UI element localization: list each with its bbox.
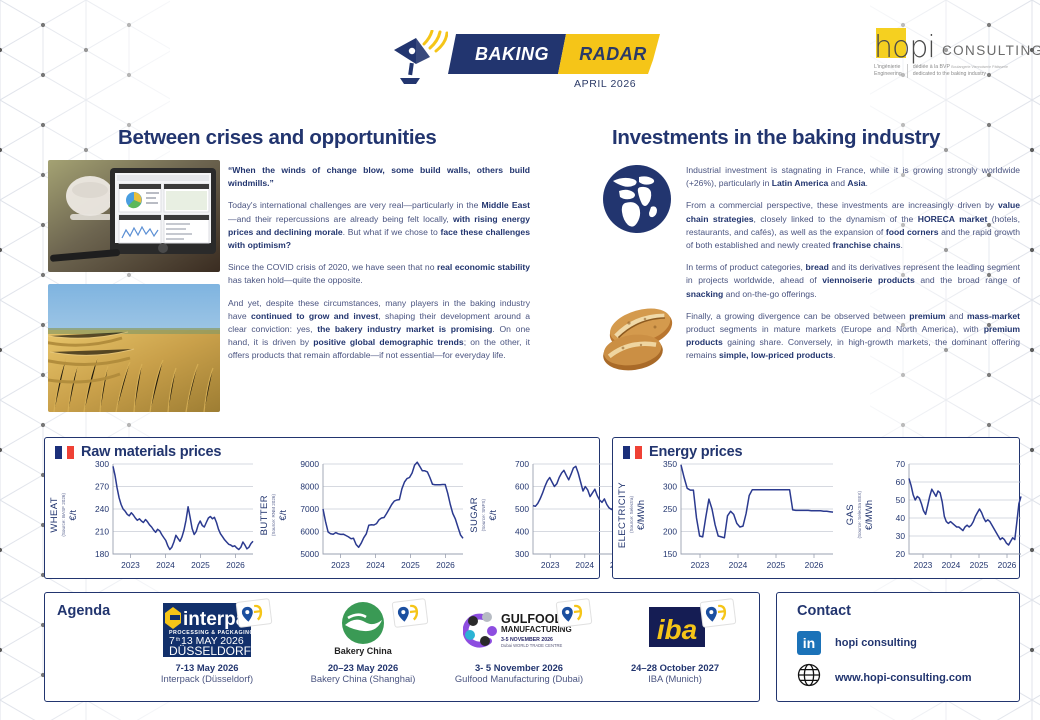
tablet-dashboard-photo — [48, 160, 220, 272]
chart-wheat: WHEAT (Source: BASF 2026) €/t 1802102402… — [49, 458, 259, 579]
article-right-para-4: Finally, a growing divergence can be obs… — [686, 310, 1020, 363]
svg-text:180: 180 — [95, 549, 109, 559]
svg-text:th: th — [176, 637, 180, 643]
article-right-body: Industrial investment is stagnating in F… — [686, 164, 1020, 363]
logo-consulting-text: CONSULTING — [942, 43, 1040, 58]
svg-text:400: 400 — [515, 527, 529, 537]
banner-radar-text: RADAR — [566, 34, 660, 74]
website-url[interactable]: www.hopi-consulting.com — [835, 672, 971, 684]
page-header: BAKING RADAR APRIL 2026 hopi CONSULTING … — [0, 0, 1040, 112]
svg-text:150: 150 — [663, 549, 677, 559]
newsletter-page: BAKING RADAR APRIL 2026 hopi CONSULTING … — [0, 0, 1040, 720]
globe-icon — [601, 163, 673, 235]
french-flag-icon — [55, 446, 74, 459]
svg-text:300: 300 — [663, 482, 677, 492]
butter-axis-labels: BUTTER (Source: RNM 2026) €/t — [259, 458, 289, 570]
interpack-date: 7-13 May 2026 — [129, 662, 285, 673]
svg-text:8000: 8000 — [300, 482, 319, 492]
iba-date: 24–28 October 2027 — [597, 662, 753, 673]
bakery-china-name: Bakery China (Shanghai) — [285, 673, 441, 685]
gas-plot: 2030405060702023202420252026 — [877, 458, 1027, 579]
gas-unit: €/MWh — [864, 500, 875, 530]
svg-text:500: 500 — [515, 504, 529, 514]
interpack-logo: interpack PROCESSING & PACKAGING 7 th 13… — [129, 599, 285, 661]
logo-tagline-fr-1: L'ingénierie — [874, 64, 902, 71]
svg-text:2023: 2023 — [331, 560, 350, 570]
contact-website-row[interactable]: www.hopi-consulting.com — [797, 663, 971, 692]
svg-text:2026: 2026 — [805, 560, 824, 570]
svg-text:60: 60 — [896, 477, 906, 487]
svg-text:2025: 2025 — [191, 560, 210, 570]
svg-text:2026: 2026 — [226, 560, 245, 570]
svg-text:2026: 2026 — [998, 560, 1017, 570]
chart-butter: BUTTER (Source: RNM 2026) €/t 5000600070… — [259, 458, 469, 579]
electricity-axis-labels: ELECTRICITY (Source: Selectra) €/MWh — [617, 458, 647, 570]
contact-panel: Contact in hopi consulting www.hopi-cons… — [776, 592, 1020, 702]
svg-text:270: 270 — [95, 482, 109, 492]
energy-prices-panel: Energy prices ELECTRICITY (Source: Selec… — [612, 437, 1020, 579]
svg-text:2024: 2024 — [729, 560, 748, 570]
raw-charts-row: WHEAT (Source: BASF 2026) €/t 1802102402… — [49, 458, 677, 579]
svg-text:2023: 2023 — [541, 560, 560, 570]
banner-baking-text: BAKING — [462, 34, 562, 74]
svg-text:600: 600 — [515, 482, 529, 492]
iba-name: IBA (Munich) — [597, 673, 753, 685]
svg-text:2023: 2023 — [691, 560, 710, 570]
iba-logo: iba — [597, 599, 753, 661]
svg-text:300: 300 — [515, 549, 529, 559]
contact-title: Contact — [797, 603, 851, 619]
sugar-axis-labels: SUGAR (Source: SNFS) €/t — [469, 458, 499, 570]
svg-text:40: 40 — [896, 513, 906, 523]
contact-linkedin-row[interactable]: in hopi consulting — [797, 631, 917, 655]
agenda-events: interpack PROCESSING & PACKAGING 7 th 13… — [129, 599, 755, 685]
butter-plot: 500060007000800090002023202420252026 — [291, 458, 469, 579]
svg-text:2025: 2025 — [970, 560, 989, 570]
electricity-plot: 1502002503003502023202420252026 — [649, 458, 839, 579]
agenda-event-bakery-china[interactable]: Bakery China 20–23 May 2026 Bakery China… — [285, 599, 441, 685]
logo-tagline-fr-2b: Boulangerie Viennoiserie Pâtisserie — [951, 65, 1008, 69]
butter-label: BUTTER — [259, 495, 270, 535]
article-right-para-2: From a commercial perspective, these inv… — [686, 199, 1020, 252]
bakery-china-logo: Bakery China — [285, 599, 441, 661]
svg-text:700: 700 — [515, 459, 529, 469]
article-left-title: Between crises and opportunities — [46, 126, 530, 150]
baking-radar-banner: BAKING RADAR — [448, 34, 660, 74]
gulfood-manufacturing-logo: GULFOOD MANUFACTURING 3-5 NOVEMBER 2026 … — [441, 599, 597, 661]
svg-text:Dubai WORLD TRADE CENTRE: Dubai WORLD TRADE CENTRE — [501, 643, 563, 648]
butter-source: (Source: RNM 2026) — [271, 494, 276, 536]
location-pin-badge — [556, 598, 593, 628]
bread-loaves-photo — [601, 285, 681, 377]
wheat-plot: 1802102402703002023202420252026 — [81, 458, 259, 579]
butter-unit: €/t — [278, 510, 289, 521]
article-right-title: Investments in the baking industry — [604, 126, 1020, 150]
svg-text:30: 30 — [896, 531, 906, 541]
logo-wordmark: hopi — [874, 30, 935, 65]
electricity-label: ELECTRICITY — [617, 482, 628, 548]
svg-text:200: 200 — [663, 527, 677, 537]
logo-tagline-fr-2: dédiée à la BVP — [913, 64, 950, 70]
svg-text:2025: 2025 — [401, 560, 420, 570]
logo-tagline: L'ingénierie Engineering dédiée à la BVP… — [874, 64, 1008, 78]
agenda-panel: Agenda interpack PROCESSING & PACKAGING … — [44, 592, 760, 702]
raw-materials-prices-panel: Raw materials prices WHEAT (Source: BASF… — [44, 437, 600, 579]
bakery-china-date: 20–23 May 2026 — [285, 662, 441, 673]
sugar-label: SUGAR — [469, 497, 480, 533]
svg-text:2024: 2024 — [156, 560, 175, 570]
article-right-para-3: In terms of product categories, bread an… — [686, 261, 1020, 301]
agenda-title: Agenda — [57, 603, 110, 619]
electricity-unit: €/MWh — [636, 500, 647, 530]
gulfood-name: Gulfood Manufacturing (Dubai) — [441, 673, 597, 685]
energy-charts-row: ELECTRICITY (Source: Selectra) €/MWh 150… — [617, 458, 1027, 579]
svg-text:350: 350 — [663, 459, 677, 469]
sugar-source: (Source: SNFS) — [481, 499, 486, 531]
svg-text:20: 20 — [896, 549, 906, 559]
gas-axis-labels: GAS (Source: Selectra EEX) €/MWh — [845, 458, 875, 570]
svg-text:2023: 2023 — [914, 560, 933, 570]
interpack-name: Interpack (Düsseldorf) — [129, 673, 285, 685]
sugar-unit: €/t — [488, 510, 499, 521]
location-pin-badge — [700, 598, 737, 628]
article-right-para-1: Industrial investment is stagnating in F… — [686, 164, 1020, 190]
wheat-source: (Source: BASF 2026) — [61, 493, 66, 537]
svg-text:2024: 2024 — [942, 560, 961, 570]
svg-text:2024: 2024 — [366, 560, 385, 570]
svg-text:250: 250 — [663, 504, 677, 514]
article-left-para-3: And yet, despite these circumstances, ma… — [228, 297, 530, 363]
svg-text:2024: 2024 — [575, 560, 594, 570]
globe-icon[interactable] — [797, 663, 821, 692]
wheat-field-photo — [48, 284, 220, 412]
article-left-para-1: Today's international challenges are ver… — [228, 199, 530, 252]
gas-source: (Source: Selectra EEX) — [857, 491, 862, 539]
french-flag-icon — [623, 446, 642, 459]
gulfood-date: 3- 5 November 2026 — [441, 662, 597, 673]
svg-text:DÜSSELDORF: DÜSSELDORF — [169, 644, 251, 658]
article-left-para-2: Since the COVID crisis of 2020, we have … — [228, 261, 530, 287]
raw-panel-header: Raw materials prices — [45, 438, 599, 460]
agenda-event-gulfood[interactable]: GULFOOD MANUFACTURING 3-5 NOVEMBER 2026 … — [441, 599, 597, 685]
svg-text:2026: 2026 — [436, 560, 455, 570]
wheat-axis-labels: WHEAT (Source: BASF 2026) €/t — [49, 458, 79, 570]
electricity-source: (Source: Selectra) — [629, 496, 634, 533]
article-left-quote: “When the winds of change blow, some bui… — [228, 164, 530, 190]
linkedin-handle[interactable]: hopi consulting — [835, 637, 917, 649]
energy-panel-header: Energy prices — [613, 438, 1019, 460]
logo-tagline-en-1: Engineering — [874, 71, 902, 78]
issue-date: APRIL 2026 — [574, 78, 636, 90]
location-pin-badge — [392, 598, 429, 628]
logo-tagline-en-2: dedicated to the baking industry — [913, 71, 1008, 78]
svg-text:Bakery China: Bakery China — [334, 646, 393, 656]
hopi-consulting-logo: hopi CONSULTING L'ingénierie Engineering… — [868, 26, 1018, 84]
satellite-dish-icon — [386, 30, 448, 86]
svg-text:5000: 5000 — [300, 549, 319, 559]
agenda-event-iba[interactable]: iba 24–28 October 2027 IBA (Munich) — [597, 599, 753, 685]
linkedin-icon[interactable]: in — [797, 631, 821, 655]
svg-text:240: 240 — [95, 504, 109, 514]
svg-text:6000: 6000 — [300, 527, 319, 537]
wheat-unit: €/t — [68, 510, 79, 521]
svg-text:iba: iba — [657, 614, 697, 645]
svg-text:50: 50 — [896, 495, 906, 505]
chart-electricity: ELECTRICITY (Source: Selectra) €/MWh 150… — [617, 458, 839, 579]
chart-gas: GAS (Source: Selectra EEX) €/MWh 2030405… — [845, 458, 1027, 579]
svg-text:300: 300 — [95, 459, 109, 469]
agenda-event-interpack[interactable]: interpack PROCESSING & PACKAGING 7 th 13… — [129, 599, 285, 685]
svg-text:9000: 9000 — [300, 459, 319, 469]
svg-text:2025: 2025 — [767, 560, 786, 570]
gas-label: GAS — [845, 504, 856, 525]
svg-text:2023: 2023 — [121, 560, 140, 570]
wheat-label: WHEAT — [49, 497, 60, 533]
svg-text:GULFOOD: GULFOOD — [501, 612, 564, 626]
article-left-body: “When the winds of change blow, some bui… — [228, 164, 530, 363]
svg-text:7000: 7000 — [300, 504, 319, 514]
location-pin-badge — [236, 598, 273, 628]
svg-text:70: 70 — [896, 459, 906, 469]
svg-text:210: 210 — [95, 527, 109, 537]
